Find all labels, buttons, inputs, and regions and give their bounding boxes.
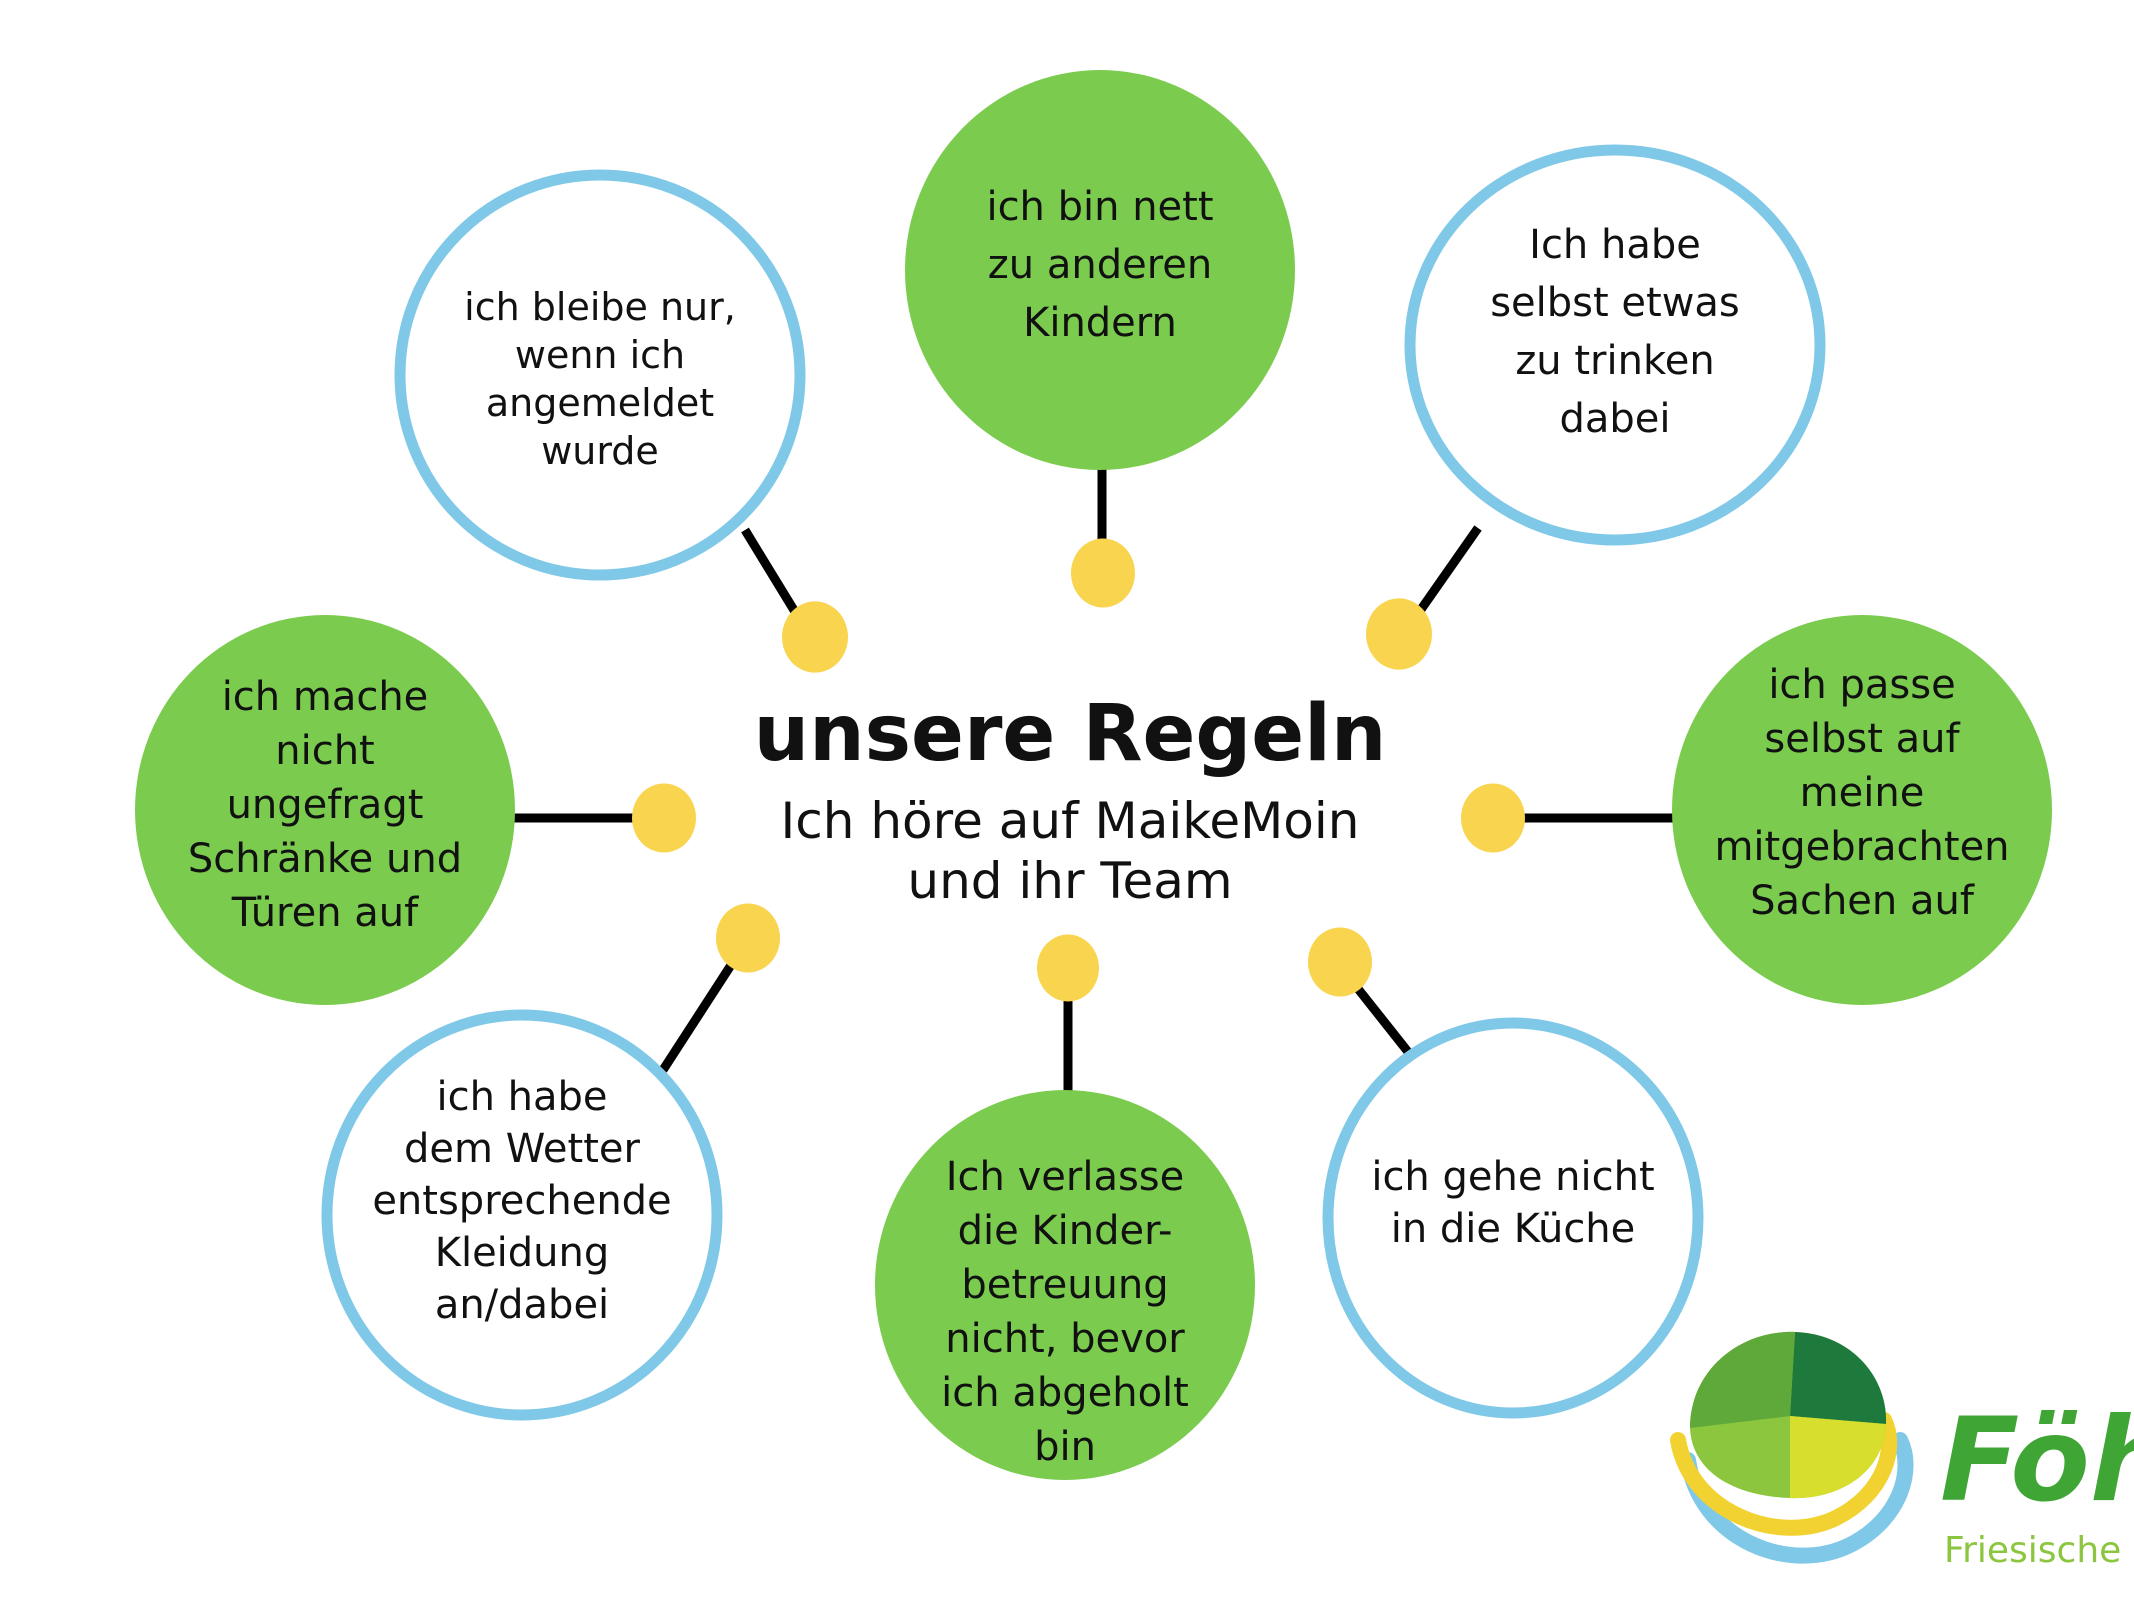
node-label-line: die Kinder- <box>958 1208 1173 1254</box>
node-label-line: Schränke und <box>188 836 462 882</box>
node-kleidung[interactable]: ich habedem WetterentsprechendeKleidunga… <box>327 1015 717 1415</box>
node-label-line: Sachen auf <box>1750 878 1975 924</box>
node-label-line: zu trinken <box>1515 338 1714 384</box>
node-label-line: Ich habe <box>1529 222 1701 268</box>
logo-wordmark: Föhr <box>1940 1393 2134 1528</box>
connector-dot-kueche <box>1308 927 1372 996</box>
logo-island-dark-wedge-icon <box>1790 1332 1886 1424</box>
node-label-line: nicht, bevor <box>945 1316 1185 1362</box>
node-kueche[interactable]: ich gehe nichtin die Küche <box>1328 1023 1698 1413</box>
node-label-line: Türen auf <box>231 890 419 936</box>
node-label-line: ich bin nett <box>986 184 1213 230</box>
mindmap-canvas: ich bleibe nur,wenn ichangemeldetwurde i… <box>0 0 2134 1600</box>
node-label-line: ich abgeholt <box>941 1370 1189 1416</box>
node-label-line: dem Wetter <box>404 1126 640 1172</box>
connector-dot-nett <box>1071 538 1135 607</box>
node-sachen[interactable]: ich passeselbst aufmeinemitgebrachtenSac… <box>1672 615 2052 1005</box>
node-label-line: Ich verlasse <box>946 1154 1185 1200</box>
node-label-line: Kindern <box>1023 300 1177 346</box>
node-label-line: angemeldet <box>486 381 714 425</box>
node-label-line: zu anderen <box>988 242 1212 288</box>
node-label-line: ich gehe nicht <box>1371 1154 1654 1200</box>
center-subtitle-line-2: und ihr Team <box>907 852 1232 910</box>
mindmap-svg: ich bleibe nur,wenn ichangemeldetwurde i… <box>0 0 2134 1600</box>
node-label-line: betreuung <box>961 1262 1168 1308</box>
connector-line-kleidung <box>663 962 733 1070</box>
node-label-line: wenn ich <box>515 333 685 377</box>
node-schraenke[interactable]: ich machenichtungefragtSchränke undTüren… <box>135 615 515 1005</box>
connector-dot-abholung <box>1037 935 1099 1002</box>
node-trinken[interactable]: Ich habeselbst etwaszu trinkendabei <box>1410 150 1820 540</box>
node-label-line: nicht <box>275 728 375 774</box>
node-label-line: ungefragt <box>227 782 424 828</box>
node-label-line: bin <box>1034 1424 1096 1470</box>
node-label-line: selbst etwas <box>1490 280 1740 326</box>
connector-line-anmeldung <box>745 530 800 620</box>
node-label-line: ich habe <box>436 1074 607 1120</box>
connector-dot-anmeldung <box>782 601 848 672</box>
node-label-line: meine <box>1800 770 1925 816</box>
node-label-line: entsprechende <box>372 1178 671 1224</box>
node-label-line: ich passe <box>1768 662 1955 708</box>
node-label-line: mitgebrachten <box>1714 824 2009 870</box>
foehr-island-mark <box>1678 1332 1906 1556</box>
node-anmeldung[interactable]: ich bleibe nur,wenn ichangemeldetwurde <box>400 175 800 575</box>
center-group: unsere Regeln Ich höre auf MaikeMoin und… <box>754 689 1387 910</box>
center-title: unsere Regeln <box>754 689 1387 779</box>
connector-line-trinken <box>1415 528 1478 618</box>
node-label-line: an/dabei <box>435 1282 609 1328</box>
node-label-line: ich bleibe nur, <box>464 285 736 329</box>
node-abholung[interactable]: Ich verlassedie Kinder-betreuungnicht, b… <box>875 1090 1255 1480</box>
logo-island-mid-wedge-icon <box>1690 1332 1795 1428</box>
node-label-line: selbst auf <box>1764 716 1960 762</box>
connector-dot-sachen <box>1461 783 1525 852</box>
connector-dot-schraenke <box>632 783 696 852</box>
node-nett[interactable]: ich bin nettzu anderenKindern <box>905 70 1295 470</box>
logo-tagline: Friesische Karibik. <box>1944 1530 2134 1571</box>
node-label-line: wurde <box>541 429 659 473</box>
center-subtitle-line-1: Ich höre auf MaikeMoin <box>781 792 1360 850</box>
node-label-line: ich mache <box>222 674 429 720</box>
node-label-line: in die Küche <box>1391 1206 1636 1252</box>
node-label-line: dabei <box>1559 396 1670 442</box>
foehr-logo[interactable]: Föhr Friesische Karibik. <box>1678 1332 2134 1571</box>
connector-dot-trinken <box>1366 598 1432 669</box>
connector-dot-kleidung <box>716 903 780 972</box>
node-label-line: Kleidung <box>435 1230 610 1276</box>
